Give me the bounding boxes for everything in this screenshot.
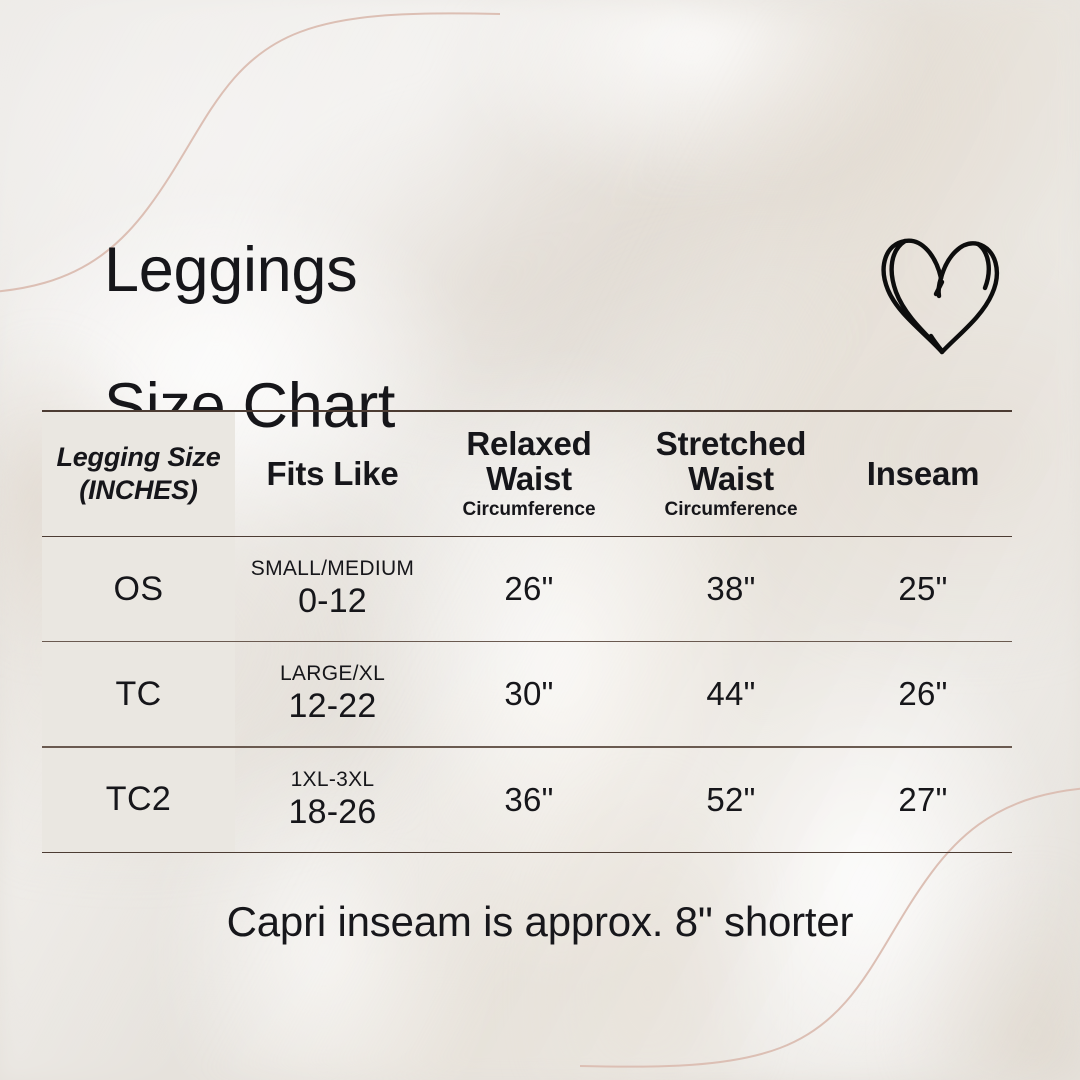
cell-stretched-waist-value: 52" <box>706 781 755 819</box>
cell-inseam: 25" <box>834 537 1012 641</box>
column-header-stretched-waist-label: Stretched Waist <box>628 426 834 497</box>
cell-stretched-waist-value: 44" <box>706 675 755 713</box>
cell-relaxed-waist-value: 30" <box>504 675 553 713</box>
cell-size: TC <box>42 642 235 746</box>
cell-relaxed-waist: 26" <box>430 537 628 641</box>
cell-fits-like: LARGE/XL 12-22 <box>235 642 430 746</box>
cell-fits-like: SMALL/MEDIUM 0-12 <box>235 537 430 641</box>
cell-stretched-waist: 38" <box>628 537 834 641</box>
cell-fits-like-range: 0-12 <box>298 582 367 621</box>
cell-inseam-value: 27" <box>898 781 947 819</box>
column-header-fits-like: Fits Like <box>235 412 430 536</box>
cell-relaxed-waist: 30" <box>430 642 628 746</box>
cell-relaxed-waist-value: 36" <box>504 781 553 819</box>
cell-relaxed-waist-value: 26" <box>504 570 553 608</box>
table-header-row: Legging Size (INCHES) Fits Like Relaxed … <box>42 412 1012 536</box>
size-chart-table: Legging Size (INCHES) Fits Like Relaxed … <box>42 410 1012 853</box>
cell-fits-like-range: 12-22 <box>289 687 377 726</box>
cell-relaxed-waist: 36" <box>430 748 628 852</box>
table-row: TC2 1XL-3XL 18-26 36" 52" 27" <box>42 748 1012 852</box>
column-header-inseam: Inseam <box>834 412 1012 536</box>
column-header-stretched-waist: Stretched Waist Circumference <box>628 412 834 536</box>
table-rule-bottom <box>42 852 1012 854</box>
column-header-legging-size: Legging Size (INCHES) <box>42 412 235 536</box>
cell-stretched-waist-value: 38" <box>706 570 755 608</box>
cell-fits-like: 1XL-3XL 18-26 <box>235 748 430 852</box>
table-row: TC LARGE/XL 12-22 30" 44" 26" <box>42 642 1012 746</box>
column-header-stretched-waist-sub: Circumference <box>664 498 797 522</box>
cell-fits-like-range: 18-26 <box>289 793 377 832</box>
page-title-line-1: Leggings <box>104 236 395 304</box>
column-header-fits-like-label: Fits Like <box>266 456 398 492</box>
cell-size: OS <box>42 537 235 641</box>
footer-note: Capri inseam is approx. 8" shorter <box>0 898 1080 946</box>
column-header-legging-size-label: Legging Size (INCHES) <box>42 441 235 507</box>
cell-inseam: 26" <box>834 642 1012 746</box>
cell-fits-like-label: LARGE/XL <box>280 662 385 685</box>
cell-fits-like-label: 1XL-3XL <box>291 768 375 791</box>
column-header-relaxed-waist-label: Relaxed Waist <box>430 426 628 497</box>
column-header-relaxed-waist: Relaxed Waist Circumference <box>430 412 628 536</box>
cell-inseam-value: 25" <box>898 570 947 608</box>
cell-size: TC2 <box>42 748 235 852</box>
cell-size-value: TC <box>115 675 161 714</box>
size-chart-page: Leggings Size Chart Legging Size (INCHES… <box>0 0 1080 1080</box>
column-header-inseam-label: Inseam <box>867 456 980 492</box>
heart-icon <box>872 222 1012 362</box>
cell-inseam-value: 26" <box>898 675 947 713</box>
cell-inseam: 27" <box>834 748 1012 852</box>
cell-stretched-waist: 52" <box>628 748 834 852</box>
cell-fits-like-label: SMALL/MEDIUM <box>251 557 414 580</box>
cell-size-value: OS <box>114 570 164 609</box>
cell-stretched-waist: 44" <box>628 642 834 746</box>
table-row: OS SMALL/MEDIUM 0-12 26" 38" 25" <box>42 537 1012 641</box>
cell-size-value: TC2 <box>106 780 171 819</box>
column-header-relaxed-waist-sub: Circumference <box>462 498 595 522</box>
